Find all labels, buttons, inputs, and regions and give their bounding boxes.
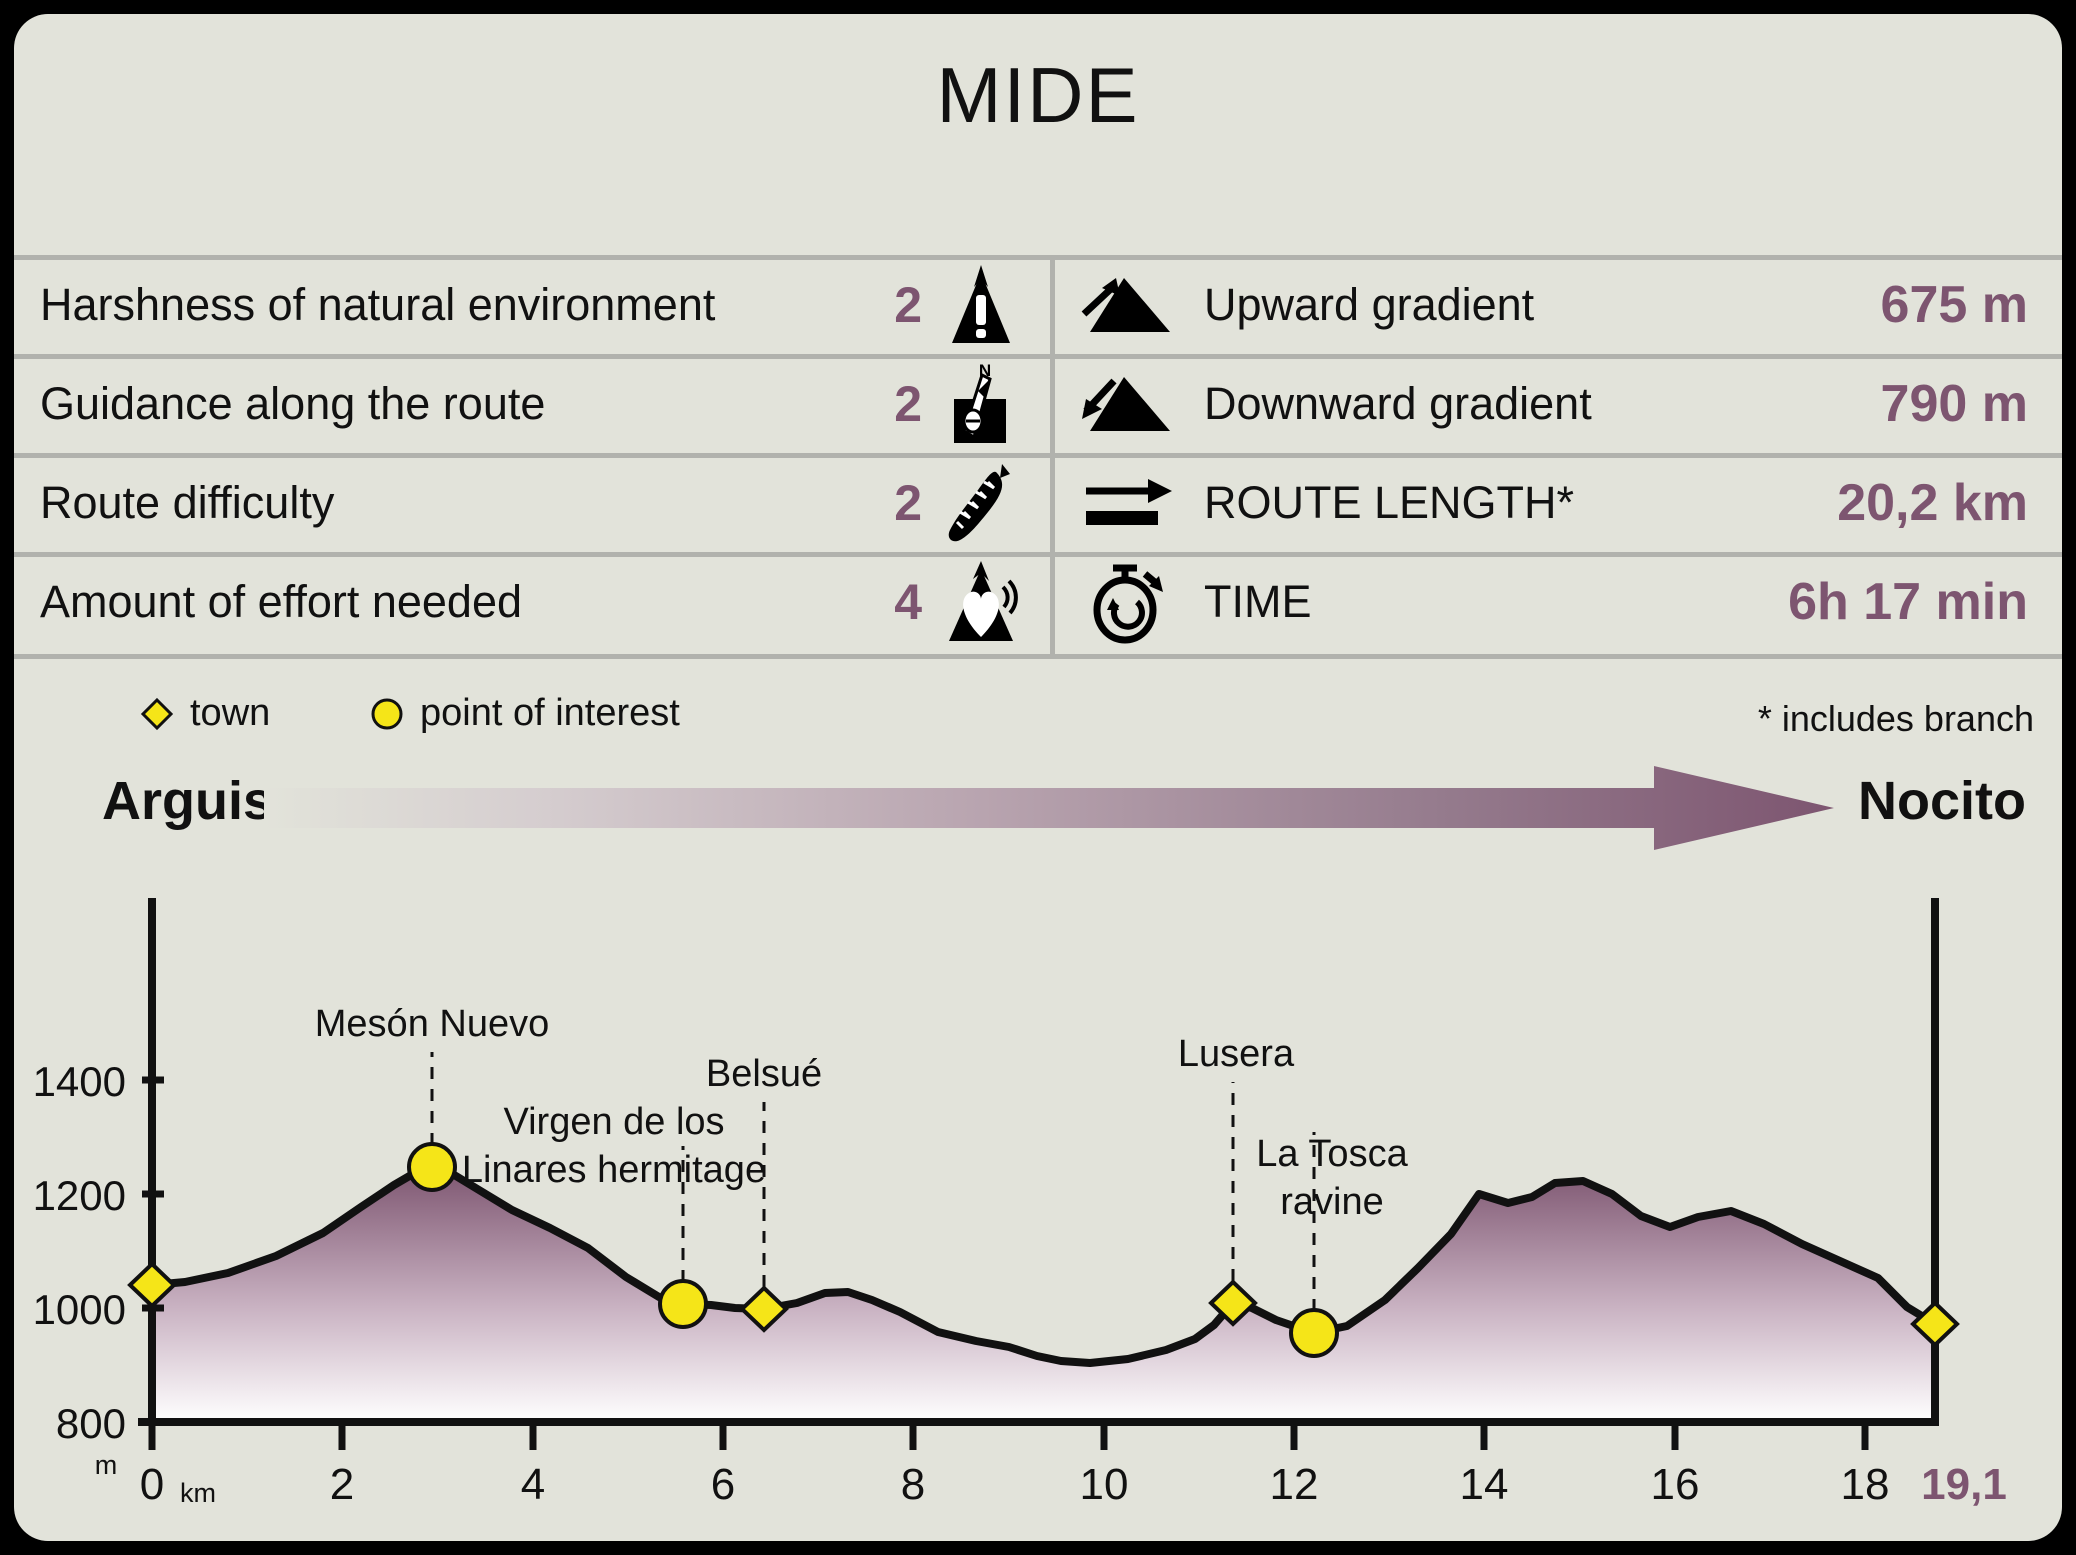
poi-label-virgen-line2: Linares hermitage xyxy=(462,1149,766,1191)
criterion-row-effort[interactable]: Amount of effort needed 4 xyxy=(40,554,1020,650)
poi-label-belsue: Belsué xyxy=(706,1053,822,1095)
criterion-row-difficulty[interactable]: Route difficulty 2 xyxy=(40,455,1020,551)
criterion-label: Amount of effort needed xyxy=(40,576,856,628)
metric-row-upward-gradient[interactable]: Upward gradient 675 m xyxy=(1074,257,2042,353)
metric-row-downward-gradient[interactable]: Downward gradient 790 m xyxy=(1074,356,2042,452)
poi-label-virgen-line1: Virgen de los xyxy=(503,1101,724,1143)
x-tick-label: 10 xyxy=(1080,1460,1129,1509)
criterion-row-harshness[interactable]: Harshness of natural environment 2 xyxy=(40,257,1020,353)
x-tick-label: 18 xyxy=(1841,1460,1890,1509)
poi-label-meson-nuevo: Mesón Nuevo xyxy=(315,1003,549,1045)
metric-row-route-length[interactable]: ROUTE LENGTH* 20,2 km xyxy=(1074,455,2042,551)
circle-marker-icon xyxy=(370,697,404,731)
metric-value: 6h 17 min xyxy=(1312,572,2043,632)
x-tick-label: 12 xyxy=(1270,1460,1319,1509)
criterion-row-guidance[interactable]: Guidance along the route 2 N xyxy=(40,356,1020,452)
elevation-profile-svg: 800 1000 1200 1400 m 0 km 2 4 6 8 10 12 … xyxy=(14,874,2062,1514)
x-tick-label: 2 xyxy=(330,1460,354,1509)
mide-card: MIDE Harshness of natural environment 2 xyxy=(14,14,2062,1541)
mide-table: Harshness of natural environment 2 Guida… xyxy=(14,255,2062,659)
y-axis-unit: m xyxy=(95,1450,118,1480)
legend-label: town xyxy=(190,692,270,735)
legend-label: point of interest xyxy=(420,692,680,735)
y-tick-label: 1000 xyxy=(33,1286,126,1333)
poi-label-la-tosca-line1: La Tosca xyxy=(1256,1133,1408,1175)
legend-item-point-of-interest: point of interest xyxy=(370,692,680,735)
y-tick-label: 1400 xyxy=(33,1058,126,1105)
distance-arrow-icon xyxy=(1074,475,1182,531)
metric-label: Upward gradient xyxy=(1204,279,1534,331)
footnote: * includes branch xyxy=(1758,698,2034,740)
x-tick-label: 14 xyxy=(1460,1460,1509,1509)
route-end-label: Nocito xyxy=(1858,770,2026,832)
profile-area xyxy=(152,1167,1935,1422)
metric-value: 790 m xyxy=(1592,374,2042,434)
stopwatch-icon xyxy=(1074,560,1182,644)
uphill-icon xyxy=(1074,274,1182,336)
heart-mountain-icon xyxy=(942,559,1020,645)
warning-triangle-icon xyxy=(942,262,1020,348)
criterion-score: 2 xyxy=(856,375,922,433)
direction-band: Arguis Nocito xyxy=(14,762,2062,854)
x-axis-unit: km xyxy=(180,1478,216,1508)
downhill-icon xyxy=(1074,373,1182,435)
chart-legend: town point of interest xyxy=(14,688,2062,750)
x-tick-label: 16 xyxy=(1651,1460,1700,1509)
x-tick-label: 6 xyxy=(711,1460,735,1509)
x-axis-end-label: 19,1 xyxy=(1921,1460,2007,1509)
metric-value: 675 m xyxy=(1534,275,2042,335)
metric-label: Downward gradient xyxy=(1204,378,1592,430)
poi-label-la-tosca-line2: ravine xyxy=(1280,1181,1384,1223)
metric-label: TIME xyxy=(1204,576,1312,628)
marker-poi-la-tosca-ravine[interactable] xyxy=(1291,1310,1337,1356)
poi-label-lusera: Lusera xyxy=(1178,1033,1295,1075)
compass-map-icon: N xyxy=(942,361,1020,447)
x-tick-label: 0 xyxy=(140,1460,164,1509)
y-tick-label: 1200 xyxy=(33,1172,126,1219)
route-start-label: Arguis xyxy=(102,770,273,832)
table-rule xyxy=(14,654,2062,659)
criterion-score: 4 xyxy=(856,573,922,631)
marker-poi-meson-nuevo[interactable] xyxy=(409,1144,455,1190)
criterion-label: Harshness of natural environment xyxy=(40,279,856,331)
criterion-label: Route difficulty xyxy=(40,477,856,529)
y-tick-label: 800 xyxy=(56,1400,126,1447)
criterion-label: Guidance along the route xyxy=(40,378,856,430)
metric-value: 20,2 km xyxy=(1574,473,2042,533)
boot-icon xyxy=(942,460,1020,546)
x-tick-label: 8 xyxy=(901,1460,925,1509)
metric-label: ROUTE LENGTH* xyxy=(1204,477,1574,529)
direction-arrow-icon xyxy=(264,766,1834,850)
table-column-divider xyxy=(1050,255,1055,659)
page-title: MIDE xyxy=(14,50,2062,141)
legend-item-town: town xyxy=(140,692,270,735)
criterion-score: 2 xyxy=(856,474,922,532)
diamond-marker-icon xyxy=(140,697,174,731)
x-tick-label: 4 xyxy=(521,1460,545,1509)
criterion-score: 2 xyxy=(856,276,922,334)
elevation-profile-chart: 800 1000 1200 1400 m 0 km 2 4 6 8 10 12 … xyxy=(14,874,2062,1514)
marker-poi-virgen-de-los-linares[interactable] xyxy=(660,1281,706,1327)
metric-row-time[interactable]: TIME 6h 17 min xyxy=(1074,554,2042,650)
